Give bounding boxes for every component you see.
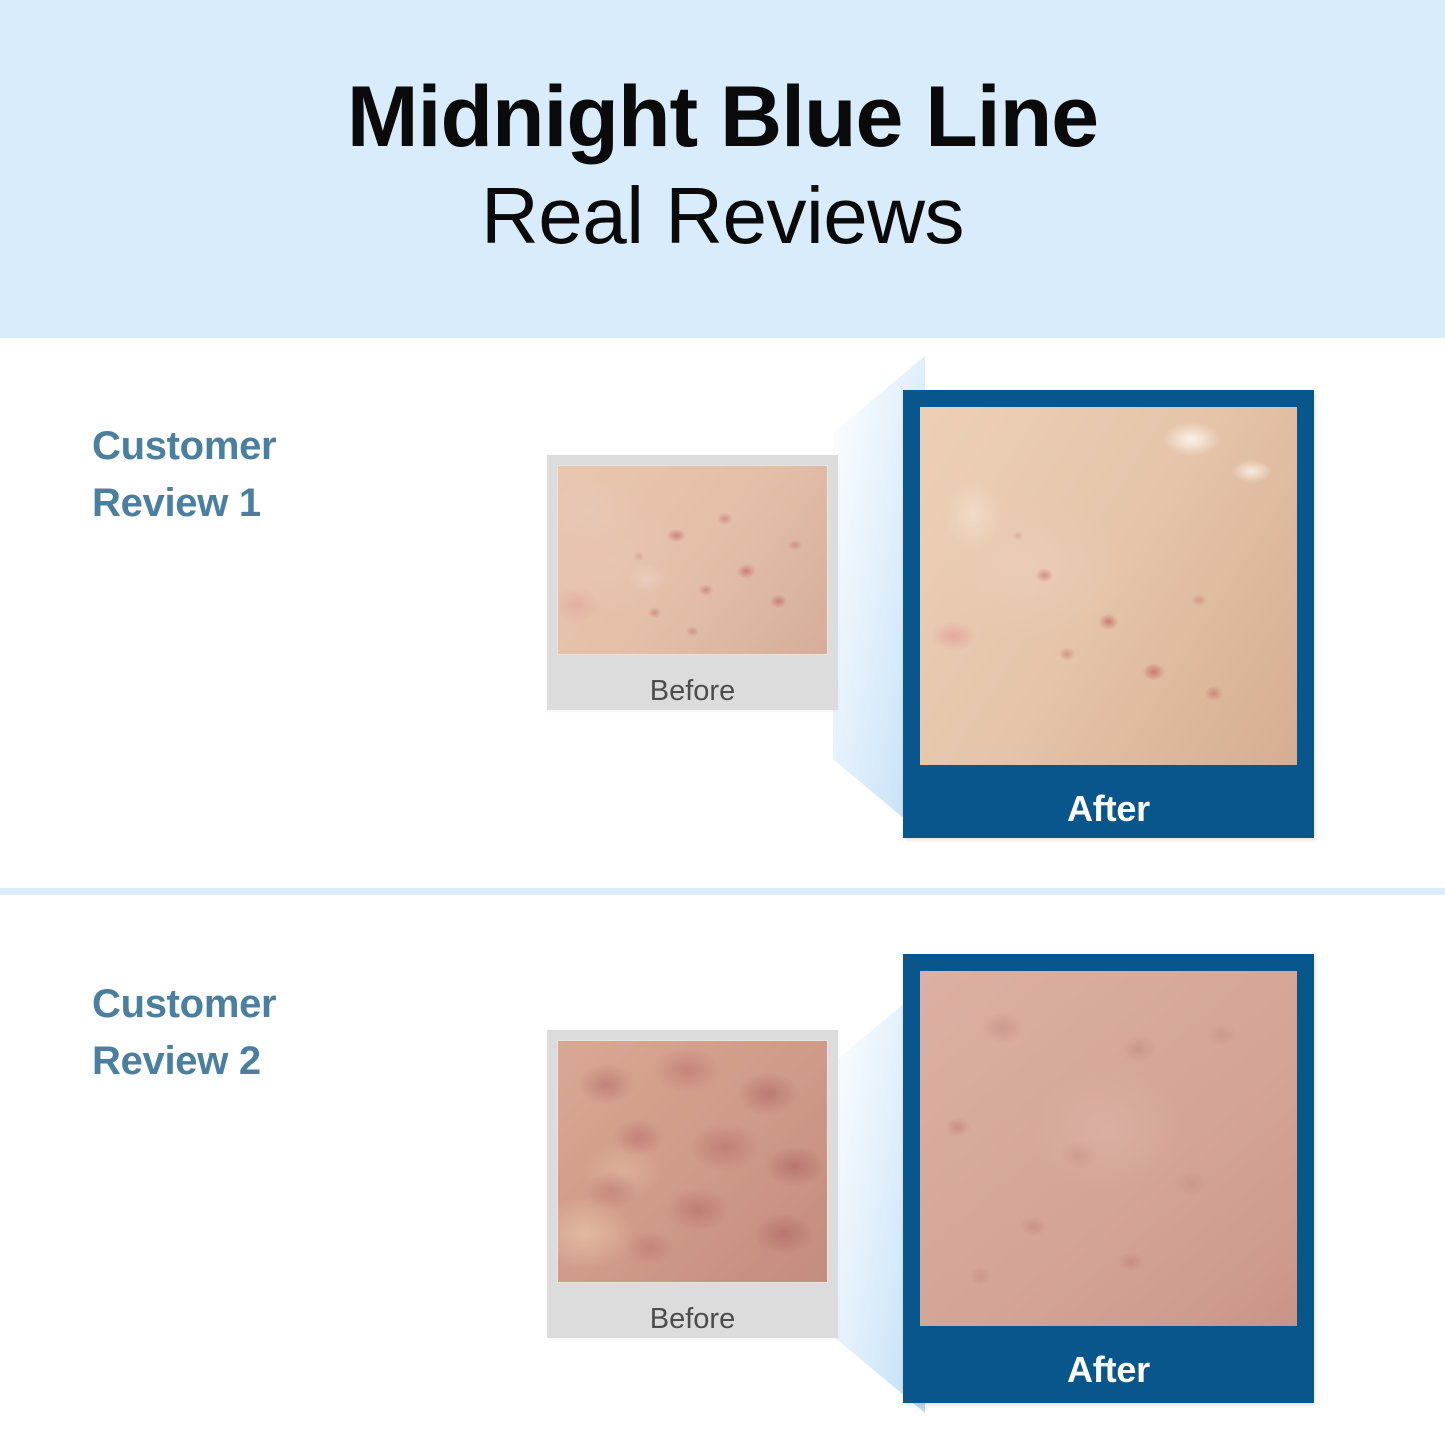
after-frame-1: After [903,390,1314,838]
review-label-2: Customer Review 2 [92,976,276,1090]
before-photo-1 [557,465,828,655]
page-header: Midnight Blue Line Real Reviews [0,0,1445,338]
review-section-1: Customer Review 1 Before After [0,338,1445,890]
page-subtitle: Real Reviews [481,166,964,266]
page-title: Midnight Blue Line [347,72,1098,162]
review-section-2: Customer Review 2 Before After [0,896,1445,1445]
after-frame-2: After [903,954,1314,1403]
section-divider [0,888,1445,895]
after-caption-2: After [920,1326,1297,1388]
after-caption-1: After [920,765,1297,827]
review-label-1-line1: Customer [92,418,276,475]
review-label-1: Customer Review 1 [92,418,276,532]
review-label-1-line2: Review 1 [92,475,276,532]
review-label-2-line1: Customer [92,976,276,1033]
before-photo-2 [557,1040,828,1283]
before-caption-1: Before [557,655,828,706]
review-label-2-line2: Review 2 [92,1033,276,1090]
after-photo-2 [920,971,1297,1326]
before-caption-2: Before [557,1283,828,1334]
before-card-1: Before [547,455,838,710]
after-photo-1 [920,407,1297,765]
before-card-2: Before [547,1030,838,1338]
